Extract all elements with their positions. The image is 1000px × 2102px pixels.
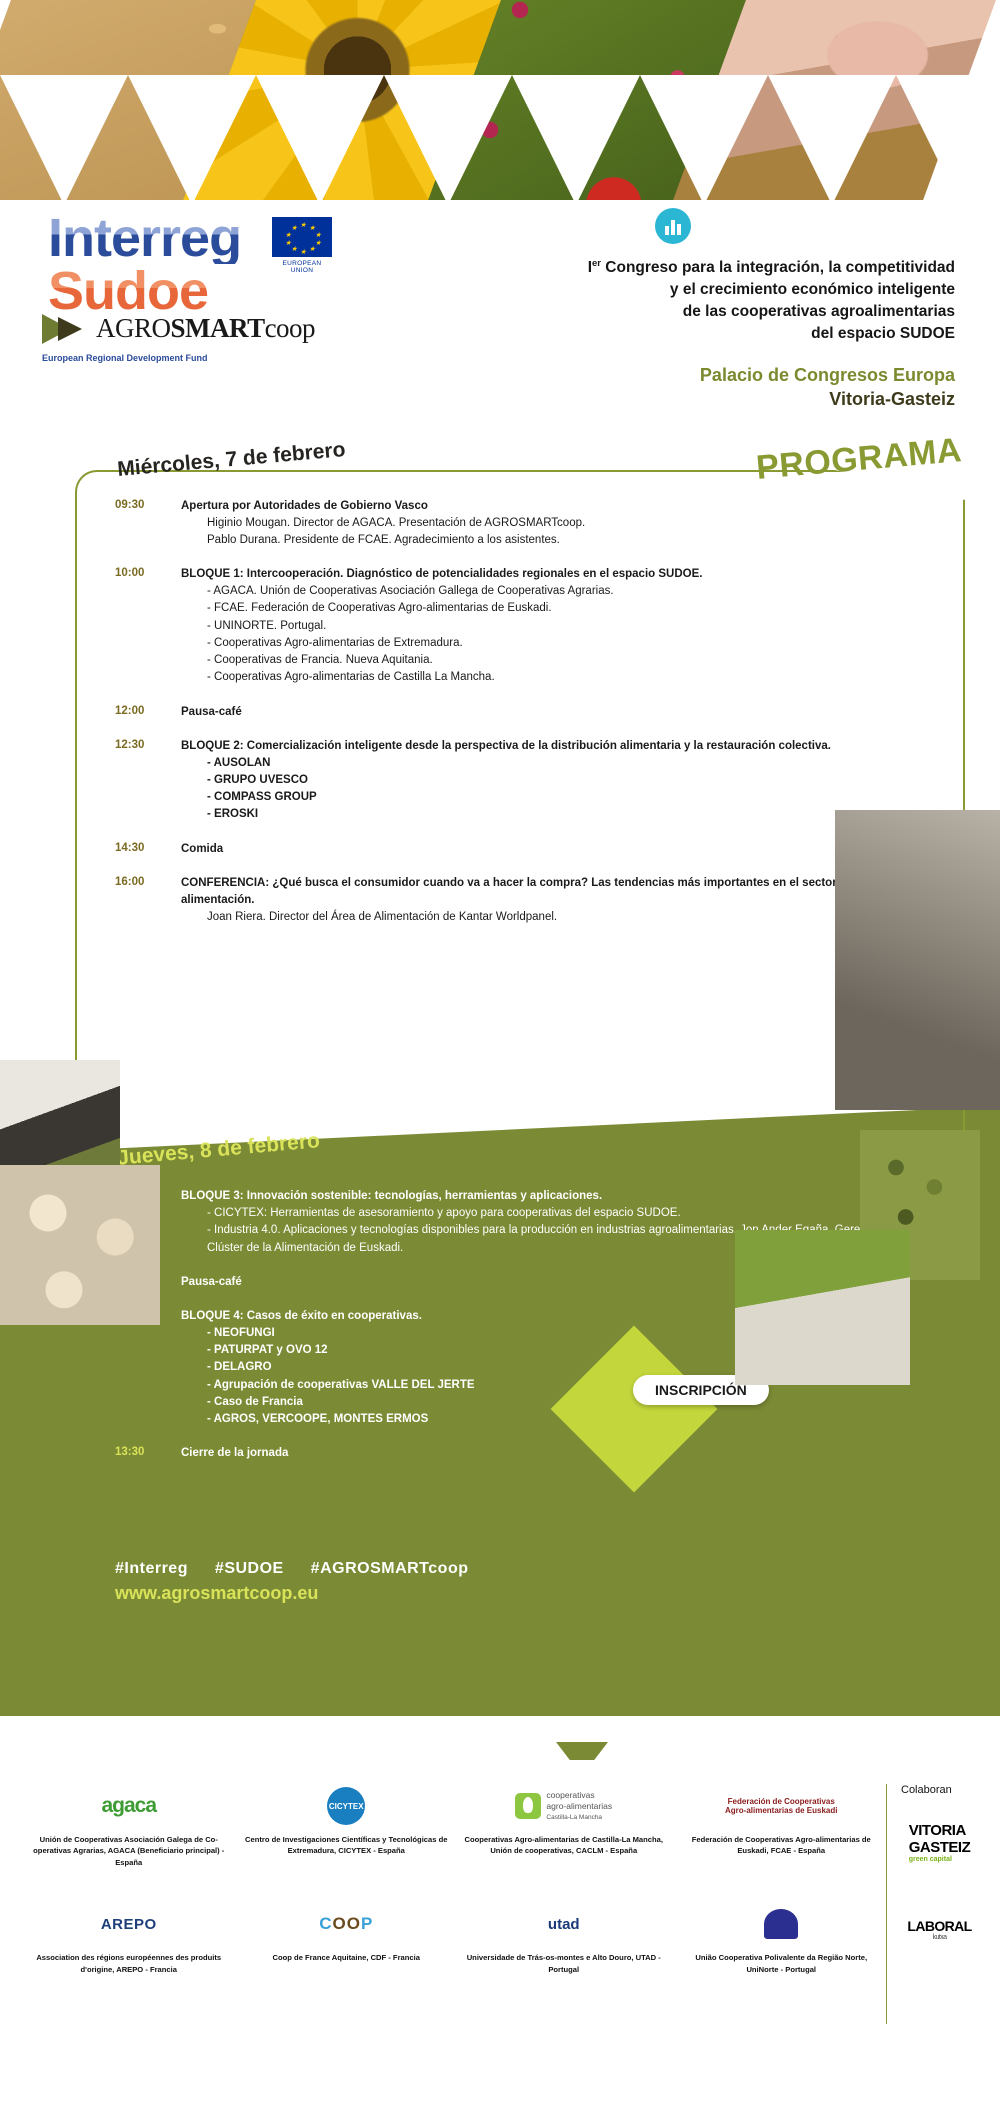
schedule-time: 12:00 <box>115 704 181 721</box>
partner-caption: Association des régions européennes des … <box>26 1952 232 1975</box>
photo-rabbit <box>835 810 1000 1110</box>
schedule-time: 14:30 <box>115 841 181 858</box>
schedule-time: 09:30 <box>115 498 181 549</box>
eu-flag-icon: ★★★ ★★★ ★★★ ★ <box>272 217 332 257</box>
partner-logo-cell: CICYTEXCentro de Investigaciones Científ… <box>238 1784 456 1868</box>
day1-schedule: 09:30Apertura por Autoridades de Gobiern… <box>115 498 925 943</box>
venue-city: Vitoria-Gasteiz <box>395 387 955 411</box>
partner-logo-icon: cooperativasagro-alimentariasCastilla-La… <box>461 1784 667 1828</box>
lk-line2: kutxa <box>901 1934 978 1941</box>
partner-logo-cell: Federación de CooperativasAgro-alimentar… <box>673 1784 891 1868</box>
vg-line3: green capital <box>909 1856 971 1863</box>
schedule-item: - AGACA. Unión de Cooperativas Asociació… <box>207 583 925 600</box>
partner-caption: Federación de Cooperativas Agro-alimenta… <box>679 1834 885 1857</box>
erdf-caption: European Regional Development Fund <box>42 353 208 363</box>
partner-logo-cell: União Cooperativa Polivalente da Região … <box>673 1902 891 1975</box>
schedule-body: Comida <box>181 841 925 858</box>
schedule-speaker: Pablo Durana. Presidente de FCAE. Agrade… <box>181 532 925 549</box>
schedule-row: 10:00BLOQUE 1: Intercooperación. Diagnós… <box>115 566 925 687</box>
lk-line1: LABORAL <box>907 1918 971 1934</box>
schedule-heading: Apertura por Autoridades de Gobierno Vas… <box>181 498 925 515</box>
schedule-heading: Cierre de la jornada <box>181 1445 925 1462</box>
agrosmart-wordmark: AGROSMARTcoop <box>96 313 315 344</box>
website-url[interactable]: www.agrosmartcoop.eu <box>115 1583 490 1604</box>
congress-title-line1: Ier Congreso para la integración, la com… <box>395 257 955 279</box>
congress-title-line3: de las cooperativas agroalimentarias <box>395 301 955 323</box>
collaborators-label: Colaboran <box>901 1784 978 1796</box>
title-ordinal-sup: er <box>592 258 601 269</box>
partner-logo-icon: AREPO <box>26 1902 232 1946</box>
schedule-item: - Cooperativas de Francia. Nueva Aquitan… <box>207 652 925 669</box>
social-block: #Interreg #SUDOE #AGROSMARTcoop www.agro… <box>115 1560 490 1604</box>
schedule-time: 11:30 <box>115 1308 181 1429</box>
hashtag-interreg: #Interreg <box>115 1560 188 1577</box>
partner-caption: Universidade de Trás-os-montes e Alto Do… <box>461 1952 667 1975</box>
eu-flag-logo: ★★★ ★★★ ★★★ ★ EUROPEAN UNION <box>272 217 332 274</box>
hashtag-agrosmartcoop: #AGROSMARTcoop <box>311 1560 469 1577</box>
schedule-item: - UNINORTE. Portugal. <box>207 618 925 635</box>
schedule-body: BLOQUE 2: Comercialización inteligente d… <box>181 738 925 824</box>
schedule-heading: CONFERENCIA: ¿Qué busca el consumidor cu… <box>181 875 925 909</box>
partner-logo-cell: utadUniversidade de Trás-os-montes e Alt… <box>455 1902 673 1975</box>
schedule-row: 09:30Apertura por Autoridades de Gobiern… <box>115 498 925 549</box>
schedule-heading: BLOQUE 1: Intercooperación. Diagnóstico … <box>181 566 925 583</box>
schedule-body: BLOQUE 1: Intercooperación. Diagnóstico … <box>181 566 925 687</box>
vg-line2: GASTEIZ <box>909 1839 971 1856</box>
schedule-heading: BLOQUE 3: Innovación sostenible: tecnolo… <box>181 1188 925 1205</box>
hashtag-sudoe: #SUDOE <box>215 1560 284 1577</box>
interreg-wordmark: Interreg <box>48 213 241 264</box>
partner-logo-icon: CICYTEX <box>244 1784 450 1828</box>
schedule-heading: Pausa-café <box>181 704 925 721</box>
partner-logo-cell: agacaUnión de Cooperativas Asociación Ga… <box>20 1784 238 1868</box>
schedule-time: 16:00 <box>115 875 181 926</box>
program-panel: Miércoles, 7 de febrero 09:30Apertura po… <box>75 470 965 1710</box>
partner-caption: União Cooperativa Polivalente da Região … <box>679 1952 885 1975</box>
congress-title: Ier Congreso para la integración, la com… <box>395 257 955 345</box>
venue-block: Palacio de Congresos Europa Vitoria-Gast… <box>395 363 955 412</box>
schedule-item: - EROSKI <box>207 806 925 823</box>
schedule-body: CONFERENCIA: ¿Qué busca el consumidor cu… <box>181 875 925 926</box>
congress-title-line4: del espacio SUDOE <box>395 323 955 345</box>
vg-line1: VITORIA <box>909 1822 971 1839</box>
vitoria-gasteiz-logo: VITORIA GASTEIZ green capital <box>909 1822 971 1863</box>
schedule-item: - Cooperativas Agro-alimentarias de Cast… <box>207 669 925 686</box>
schedule-item: - FCAE. Federación de Cooperativas Agro-… <box>207 600 925 617</box>
venue-name: Palacio de Congresos Europa <box>395 363 955 387</box>
hero-photo-band <box>0 0 1000 200</box>
partner-logo-icon: agaca <box>26 1784 232 1828</box>
schedule-row: 12:00Pausa-café <box>115 704 925 721</box>
chart-badge-icon <box>655 208 691 244</box>
footer-partners: agacaUnión de Cooperativas Asociación Ga… <box>0 1760 1000 2102</box>
partner-logo-icon: utad <box>461 1902 667 1946</box>
laboral-kutxa-logo: LABORAL kutxa <box>901 1918 978 1941</box>
partner-row-2: AREPOAssociation des régions européennes… <box>20 1902 890 1975</box>
schedule-time: 13:30 <box>115 1445 181 1462</box>
schedule-row: 14:30Comida <box>115 841 925 858</box>
schedule-row: 16:00CONFERENCIA: ¿Qué busca el consumid… <box>115 875 925 926</box>
sudoe-wordmark: Sudoe <box>48 266 241 317</box>
partner-row-1: agacaUnión de Cooperativas Asociación Ga… <box>20 1784 890 1868</box>
agrosmart-word-agro: AGRO <box>96 313 171 343</box>
partner-logo-icon <box>679 1902 885 1946</box>
partner-logo-icon: Federación de CooperativasAgro-alimentar… <box>679 1784 885 1828</box>
schedule-heading: Comida <box>181 841 925 858</box>
partner-caption: Unión de Cooperativas Asociación Galega … <box>26 1834 232 1868</box>
partner-caption: Coop de France Aquitaine, CDF - Francia <box>244 1952 450 1963</box>
partner-caption: Centro de Investigaciones Científicas y … <box>244 1834 450 1857</box>
schedule-item-list: - AUSOLAN- GRUPO UVESCO- COMPASS GROUP- … <box>181 755 925 824</box>
partner-logo-cell: cooperativasagro-alimentariasCastilla-La… <box>455 1784 673 1868</box>
schedule-body: Apertura por Autoridades de Gobierno Vas… <box>181 498 925 549</box>
partner-logo-cell: COOPCoop de France Aquitaine, CDF - Fran… <box>238 1902 456 1975</box>
schedule-item: - GRUPO UVESCO <box>207 772 925 789</box>
congress-title-line2: y el crecimiento económico inteligente <box>395 279 955 301</box>
schedule-speaker: Joan Riera. Director del Área de Aliment… <box>181 909 925 926</box>
photo-sheep <box>735 1230 910 1385</box>
interreg-sudoe-logo: Interreg Sudoe <box>48 213 241 318</box>
schedule-item: - CICYTEX: Herramientas de asesoramiento… <box>207 1205 925 1222</box>
partner-caption: Cooperativas Agro-alimentarias de Castil… <box>461 1834 667 1857</box>
schedule-item: - AUSOLAN <box>207 755 925 772</box>
photo-band-zigzag-edge <box>0 75 1000 200</box>
schedule-row: 12:30BLOQUE 2: Comercialización intelige… <box>115 738 925 824</box>
schedule-speaker: Higinio Mougan. Director de AGACA. Prese… <box>181 515 925 532</box>
agrosmart-word-coop: coop <box>265 313 315 343</box>
schedule-time: 12:30 <box>115 738 181 824</box>
schedule-time: 10:00 <box>115 566 181 687</box>
hashtags: #Interreg #SUDOE #AGROSMARTcoop <box>115 1560 490 1578</box>
schedule-item: - Cooperativas Agro-alimentarias de Extr… <box>207 635 925 652</box>
schedule-row: 13:30Cierre de la jornada <box>115 1445 925 1462</box>
partner-logo-cell: AREPOAssociation des régions européennes… <box>20 1902 238 1975</box>
schedule-heading: BLOQUE 2: Comercialización inteligente d… <box>181 738 925 755</box>
schedule-body: Pausa-café <box>181 704 925 721</box>
eu-flag-caption: EUROPEAN UNION <box>272 260 332 274</box>
agrosmart-word-smart: SMART <box>171 313 265 343</box>
collaborators-column: Colaboran VITORIA GASTEIZ green capital … <box>886 1784 978 2024</box>
partner-logo-icon: COOP <box>244 1902 450 1946</box>
photo-eggs <box>0 1165 160 1325</box>
schedule-item-list: - AGACA. Unión de Cooperativas Asociació… <box>181 583 925 687</box>
agrosmart-arrow-icon <box>42 314 88 344</box>
partner-logo-grid: agacaUnión de Cooperativas Asociación Ga… <box>20 1784 890 1975</box>
agrosmartcoop-logo: AGROSMARTcoop <box>42 313 315 344</box>
schedule-item: - COMPASS GROUP <box>207 789 925 806</box>
schedule-body: Cierre de la jornada <box>181 1445 925 1462</box>
